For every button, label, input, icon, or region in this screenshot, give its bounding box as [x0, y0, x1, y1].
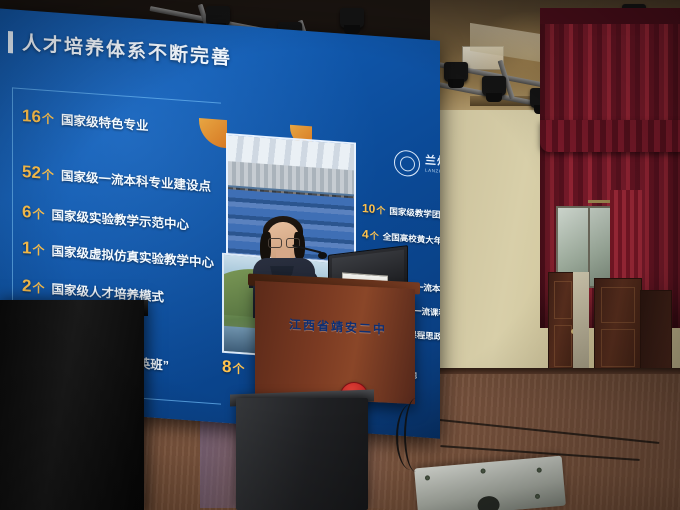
stat-unit: 个 [42, 166, 54, 184]
stat-unit: 个 [376, 203, 385, 217]
stat-unit: 个 [32, 205, 44, 223]
auditorium-scene: 人才培养体系不断完善 16 个 国家级特色专业 52 个 国家级一流本科专业建设… [0, 0, 680, 510]
stage-monitor-speaker [236, 398, 368, 510]
stat-number: 8 [222, 357, 231, 378]
stat-row-count-8: 8 个 [222, 357, 244, 379]
stat-number: 6 [22, 202, 31, 223]
rear-door[interactable] [594, 278, 642, 374]
stat-unit: 个 [370, 229, 379, 243]
corner-door[interactable] [640, 290, 672, 374]
title-accent-bar [8, 31, 13, 53]
stat-unit: 个 [232, 360, 244, 378]
stat-number: 2 [22, 276, 31, 297]
upright-piano [0, 300, 144, 510]
stat-number: 16 [22, 106, 41, 127]
curtain-valance [540, 120, 680, 152]
university-name-en: LANZHOU UNIVERSITY [425, 169, 440, 178]
wooden-podium [255, 281, 415, 404]
slide-title: 人才培养体系不断完善 [22, 28, 232, 70]
stat-number: 1 [22, 238, 31, 259]
stat-unit: 个 [42, 110, 54, 128]
stat-row: 10 个 国家级教学团队 [362, 201, 440, 221]
case-port [477, 495, 500, 510]
equipment-cable [404, 398, 428, 472]
microphone-icon [318, 252, 327, 259]
stage-spotlight-icon [340, 8, 364, 28]
door-opening [573, 272, 589, 370]
stat-unit: 个 [32, 279, 44, 297]
venue-banner-text: 江西省靖安二中 [289, 315, 387, 337]
university-seal-icon [394, 149, 420, 177]
stat-unit: 个 [32, 241, 44, 259]
stat-label: 国家级教学团队 [389, 205, 440, 221]
stat-number: 52 [22, 162, 41, 183]
stat-number: 4 [362, 227, 369, 241]
ceiling-vent [462, 46, 504, 70]
university-logo: 兰州大学 LANZHOU UNIVERSITY [394, 145, 440, 186]
stat-number: 10 [362, 201, 375, 216]
curtain-rail [540, 8, 680, 24]
